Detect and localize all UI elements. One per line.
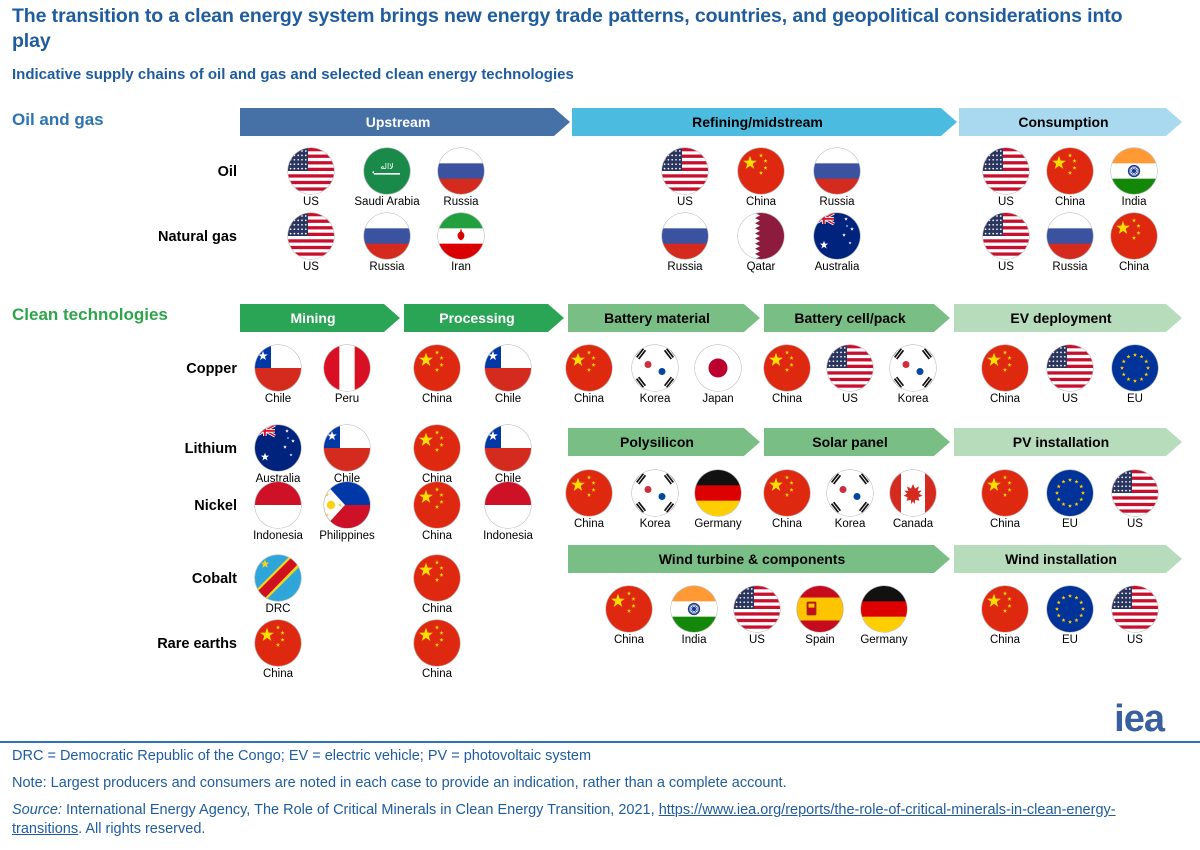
flag-label: China (552, 518, 626, 531)
flag-chile-icon (485, 345, 531, 391)
flag-label: Iran (424, 261, 498, 274)
flag-label: Russia (1033, 261, 1107, 274)
flag-china-icon (764, 470, 810, 516)
flag-cell: Chile (241, 345, 315, 406)
flag-russia-icon (1047, 213, 1093, 259)
flag-china-icon (566, 345, 612, 391)
page-subtitle: Indicative supply chains of oil and gas … (12, 66, 1152, 83)
flag-label: Peru (310, 393, 384, 406)
flag-cell: EU (1098, 345, 1172, 406)
flag-label: Russia (648, 261, 722, 274)
flag-us-icon (1112, 586, 1158, 632)
flag-label: Chile (241, 393, 315, 406)
flag-label: US (969, 196, 1043, 209)
flag-label: US (969, 261, 1043, 274)
row-label-nickel: Nickel (100, 498, 237, 514)
flag-cell: Philippines (310, 482, 384, 543)
row-label-lithium: Lithium (100, 441, 237, 457)
flag-cell: Chile (471, 345, 545, 406)
flag-russia-icon (438, 148, 484, 194)
flag-cell: EU (1033, 586, 1107, 647)
flag-cell: Australia (800, 213, 874, 274)
flag-us-icon (662, 148, 708, 194)
stage-arrow-polysilicon[interactable]: Polysilicon (568, 428, 760, 456)
flag-iran-icon (438, 213, 484, 259)
flag-us-icon (1047, 345, 1093, 391)
flag-cell: Chile (310, 425, 384, 486)
flag-cell: China (592, 586, 666, 647)
flag-us-icon (734, 586, 780, 632)
flag-cell: Indonesia (471, 482, 545, 543)
stage-label: Mining (290, 310, 335, 326)
flag-label: US (1033, 393, 1107, 406)
row-label-natural-gas: Natural gas (100, 229, 237, 245)
flag-label: Indonesia (471, 530, 545, 543)
flag-label: Spain (783, 634, 857, 647)
flag-label: China (400, 668, 474, 681)
flag-india-icon (1111, 148, 1157, 194)
flag-cell: Australia (241, 425, 315, 486)
flag-cell: China (968, 586, 1042, 647)
flag-australia-icon (255, 425, 301, 471)
iea-logo: iea (1114, 698, 1164, 741)
stage-arrow-battery-material[interactable]: Battery material (568, 304, 760, 332)
flag-label: Germany (681, 518, 755, 531)
flag-chile-icon (255, 345, 301, 391)
infographic-root: The transition to a clean energy system … (0, 0, 1200, 850)
flag-cell: China (400, 555, 474, 616)
flag-cell: US (969, 148, 1043, 209)
flag-label: China (400, 530, 474, 543)
flag-cell: Russia (648, 213, 722, 274)
stage-arrow-wind-turbine-components[interactable]: Wind turbine & components (568, 545, 950, 573)
section-label-clean-technologies: Clean technologies (12, 305, 168, 325)
flag-label: Philippines (310, 530, 384, 543)
flag-us-icon (288, 148, 334, 194)
flag-label: Qatar (724, 261, 798, 274)
flag-label: EU (1033, 518, 1107, 531)
flag-label: China (968, 518, 1042, 531)
flag-cell: US (969, 213, 1043, 274)
flag-us-icon (827, 345, 873, 391)
flag-label: Indonesia (241, 530, 315, 543)
flag-spain-icon (797, 586, 843, 632)
flag-germany-icon (861, 586, 907, 632)
flag-label: US (274, 261, 348, 274)
flag-us-icon (983, 213, 1029, 259)
flag-us-icon (983, 148, 1029, 194)
stage-arrow-consumption[interactable]: Consumption (959, 108, 1182, 136)
flag-cell: Peru (310, 345, 384, 406)
stage-label: Consumption (1018, 114, 1108, 130)
flag-china-icon (414, 482, 460, 528)
flag-cell: China (1033, 148, 1107, 209)
flag-eu-icon (1047, 470, 1093, 516)
source-label: Source: (12, 802, 62, 818)
source-text: International Energy Agency, The Role of… (62, 802, 659, 818)
flag-cell: US (274, 213, 348, 274)
flag-korea-icon (827, 470, 873, 516)
stage-label: Processing (439, 310, 514, 326)
flag-cell: Russia (800, 148, 874, 209)
flag-russia-icon (814, 148, 860, 194)
section-label-oil-and-gas: Oil and gas (12, 110, 104, 130)
stage-label: EV deployment (1010, 310, 1111, 326)
flag-us-icon (288, 213, 334, 259)
stage-arrow-processing[interactable]: Processing (404, 304, 564, 332)
flag-cell: China (724, 148, 798, 209)
flag-cell: US (1098, 470, 1172, 531)
flag-label: China (1097, 261, 1171, 274)
flag-cell: Chile (471, 425, 545, 486)
flag-china-icon (1111, 213, 1157, 259)
flag-label: China (552, 393, 626, 406)
stage-arrow-pv-installation[interactable]: PV installation (954, 428, 1182, 456)
flag-cell: Russia (350, 213, 424, 274)
flag-cell: Russia (424, 148, 498, 209)
flag-cell: China (400, 482, 474, 543)
flag-label: China (1033, 196, 1107, 209)
flag-label: India (1097, 196, 1171, 209)
flag-cell: US (1098, 586, 1172, 647)
flag-china-icon (738, 148, 784, 194)
flag-india-icon (671, 586, 717, 632)
flag-label: US (648, 196, 722, 209)
stage-arrow-solar-panel[interactable]: Solar panel (764, 428, 950, 456)
flag-china-icon (982, 470, 1028, 516)
flag-label: Russia (350, 261, 424, 274)
flag-china-icon (982, 345, 1028, 391)
stage-label: Battery cell/pack (794, 310, 905, 326)
flag-label: Germany (847, 634, 921, 647)
flag-label: China (724, 196, 798, 209)
stage-arrow-wind-installation[interactable]: Wind installation (954, 545, 1182, 573)
flag-china-icon (414, 555, 460, 601)
flag-china-icon (414, 425, 460, 471)
flag-label: Canada (876, 518, 950, 531)
flag-cell: China (968, 470, 1042, 531)
flag-china-icon (606, 586, 652, 632)
flag-cell: China (552, 345, 626, 406)
flag-cell: India (1097, 148, 1171, 209)
flag-cell: Iran (424, 213, 498, 274)
source-tail: . All rights reserved. (78, 821, 205, 837)
flag-japan-icon (695, 345, 741, 391)
flag-germany-icon (695, 470, 741, 516)
flag-cell: US (648, 148, 722, 209)
stage-label: Solar panel (812, 434, 887, 450)
flag-china-icon (414, 345, 460, 391)
flag-australia-icon (814, 213, 860, 259)
flag-cell: China (968, 345, 1042, 406)
flag-indonesia-icon (255, 482, 301, 528)
flag-cell: Japan (681, 345, 755, 406)
flag-label: Russia (424, 196, 498, 209)
flag-label: US (1098, 634, 1172, 647)
flag-korea-icon (632, 345, 678, 391)
flag-chile-icon (485, 425, 531, 471)
flag-philippines-icon (324, 482, 370, 528)
stage-arrow-refining[interactable]: Refining/midstream (572, 108, 957, 136)
flag-label: China (968, 634, 1042, 647)
row-label-oil: Oil (100, 164, 237, 180)
flag-peru-icon (324, 345, 370, 391)
footnote-note: Note: Largest producers and consumers ar… (12, 774, 1172, 793)
stage-label: Wind installation (1005, 551, 1117, 567)
flag-cell: Germany (681, 470, 755, 531)
flag-eu-icon (1112, 345, 1158, 391)
flag-cell: China (400, 345, 474, 406)
flag-korea-icon (890, 345, 936, 391)
flag-label: China (400, 603, 474, 616)
flag-label: Chile (471, 393, 545, 406)
flag-label: US (1098, 518, 1172, 531)
flag-cell: EU (1033, 470, 1107, 531)
stage-label: Polysilicon (620, 434, 694, 450)
stage-arrow-upstream[interactable]: Upstream (240, 108, 570, 136)
flag-cell: China (400, 425, 474, 486)
row-label-rare-earths: Rare earths (100, 636, 237, 652)
flag-china-icon (982, 586, 1028, 632)
flag-china-icon (255, 620, 301, 666)
stage-arrow-battery-cell-pack[interactable]: Battery cell/pack (764, 304, 950, 332)
page-title: The transition to a clean energy system … (12, 4, 1152, 54)
row-label-copper: Copper (100, 361, 237, 377)
flag-cell: Korea (876, 345, 950, 406)
flag-label: Russia (800, 196, 874, 209)
flag-label: China (592, 634, 666, 647)
flag-qatar-icon (738, 213, 784, 259)
flag-label: China (968, 393, 1042, 406)
flag-cell: DRC (241, 555, 315, 616)
flag-china-icon (764, 345, 810, 391)
flag-china-icon (1047, 148, 1093, 194)
footnote-abbreviations: DRC = Democratic Republic of the Congo; … (12, 747, 1172, 766)
stage-label: PV installation (1013, 434, 1109, 450)
stage-label: Wind turbine & components (659, 551, 846, 567)
flag-cell: Qatar (724, 213, 798, 274)
flag-indonesia-icon (485, 482, 531, 528)
flag-label: DRC (241, 603, 315, 616)
flag-cell: China (552, 470, 626, 531)
footer-divider (0, 741, 1200, 743)
flag-cell: China (241, 620, 315, 681)
flag-russia-icon (364, 213, 410, 259)
flag-cell: China (1097, 213, 1171, 274)
flag-cell: Russia (1033, 213, 1107, 274)
flag-label: Japan (681, 393, 755, 406)
svg-text:لااله: لااله (380, 162, 394, 171)
flag-drc-icon (255, 555, 301, 601)
flag-china-icon (566, 470, 612, 516)
flag-cell: Spain (783, 586, 857, 647)
flag-russia-icon (662, 213, 708, 259)
flag-label: EU (1033, 634, 1107, 647)
flag-korea-icon (632, 470, 678, 516)
flag-china-icon (414, 620, 460, 666)
stage-label: Refining/midstream (692, 114, 823, 130)
flag-cell: Germany (847, 586, 921, 647)
flag-label: EU (1098, 393, 1172, 406)
flag-eu-icon (1047, 586, 1093, 632)
row-label-cobalt: Cobalt (100, 571, 237, 587)
flag-chile-icon (324, 425, 370, 471)
flag-label: China (241, 668, 315, 681)
flag-label: Korea (876, 393, 950, 406)
flag-label: US (274, 196, 348, 209)
flag-canada-icon (890, 470, 936, 516)
flag-cell: لاالهSaudi Arabia (350, 148, 424, 209)
stage-arrow-mining[interactable]: Mining (240, 304, 400, 332)
flag-cell: Indonesia (241, 482, 315, 543)
flag-saudi-arabia-icon: لااله (364, 148, 410, 194)
flag-cell: US (1033, 345, 1107, 406)
stage-label: Upstream (366, 114, 431, 130)
stage-label: Battery material (604, 310, 710, 326)
flag-cell: China (400, 620, 474, 681)
flag-label: China (400, 393, 474, 406)
flag-label: Australia (800, 261, 874, 274)
flag-cell: Canada (876, 470, 950, 531)
flag-label: Saudi Arabia (350, 196, 424, 209)
flag-cell: US (274, 148, 348, 209)
stage-arrow-ev-deployment[interactable]: EV deployment (954, 304, 1182, 332)
footnote-source: Source: International Energy Agency, The… (12, 801, 1172, 839)
flag-us-icon (1112, 470, 1158, 516)
